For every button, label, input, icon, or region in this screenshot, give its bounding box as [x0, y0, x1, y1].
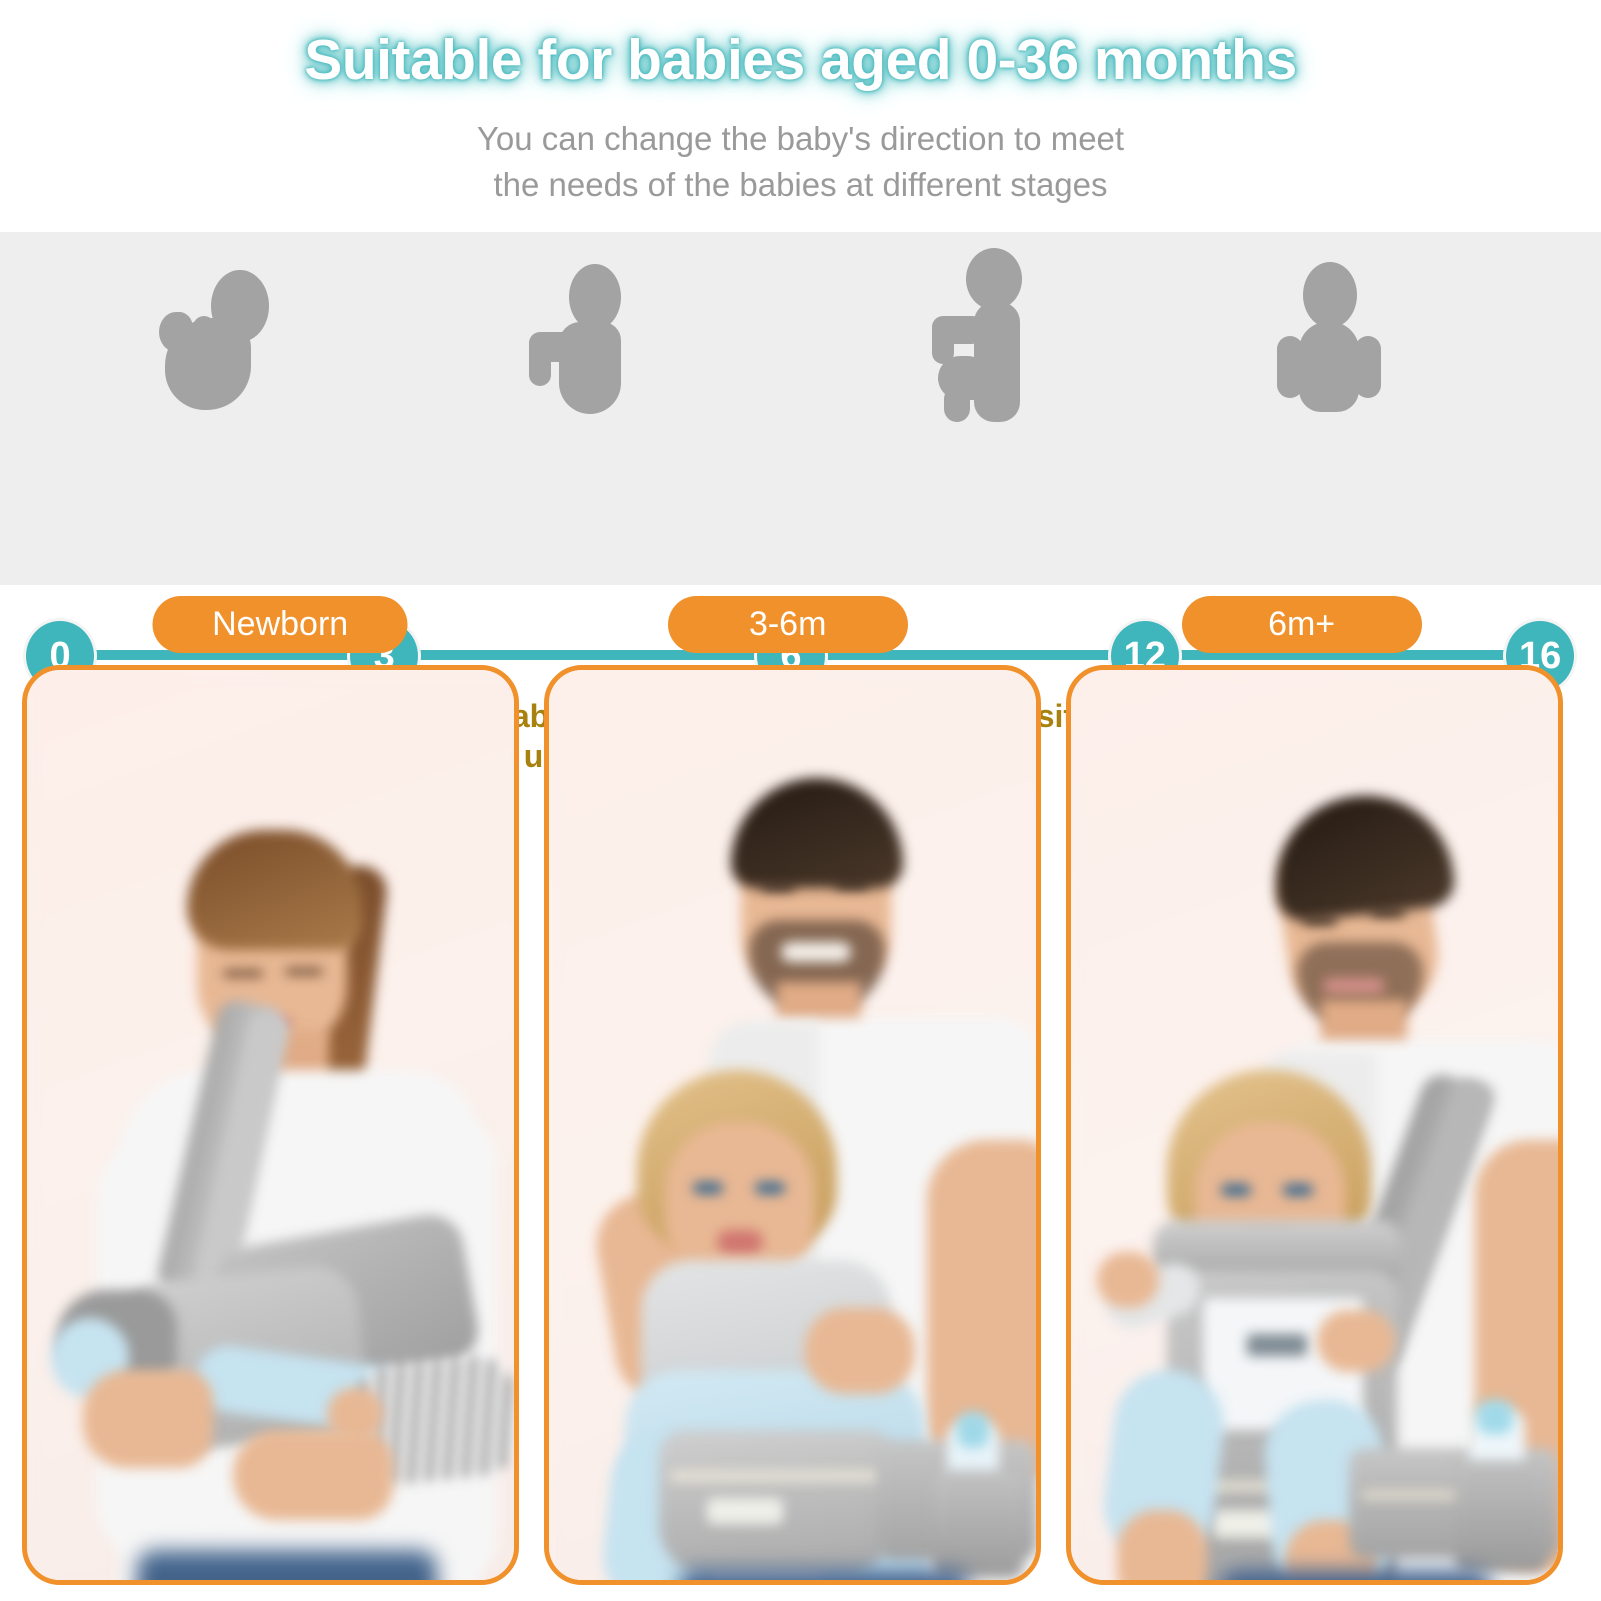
tab-6m-plus[interactable]: 6m+ [1182, 596, 1422, 653]
page-subtitle: You can change the baby's direction to m… [0, 116, 1601, 210]
photo-card-3-6m[interactable] [544, 665, 1041, 1585]
tab-newborn[interactable]: Newborn [153, 596, 408, 653]
photo-mother-newborn [27, 670, 514, 1580]
tab-3-6m[interactable]: 3-6m [668, 596, 908, 653]
photo-card-newborn[interactable] [22, 665, 519, 1585]
photo-card-6m-plus[interactable] [1066, 665, 1563, 1585]
newborn-lying-icon [159, 270, 299, 415]
age-timeline: 0 3 6 12 16 Newborn 0~3m Baby looking up… [0, 232, 1601, 585]
infographic-page: Suitable for babies aged 0-36 months You… [0, 0, 1601, 1601]
baby-looking-up-icon [529, 264, 649, 416]
header: Suitable for babies aged 0-36 months You… [0, 0, 1601, 232]
baby-standing-icon [1273, 262, 1385, 414]
photo-father-hipseat [549, 670, 1036, 1580]
photo-father-frontcarry [1071, 670, 1558, 1580]
subtitle-line-2: the needs of the babies at different sta… [494, 166, 1108, 203]
page-title: Suitable for babies aged 0-36 months [0, 28, 1601, 94]
baby-sitting-icon [920, 248, 1040, 420]
subtitle-line-1: You can change the baby's direction to m… [477, 120, 1124, 157]
